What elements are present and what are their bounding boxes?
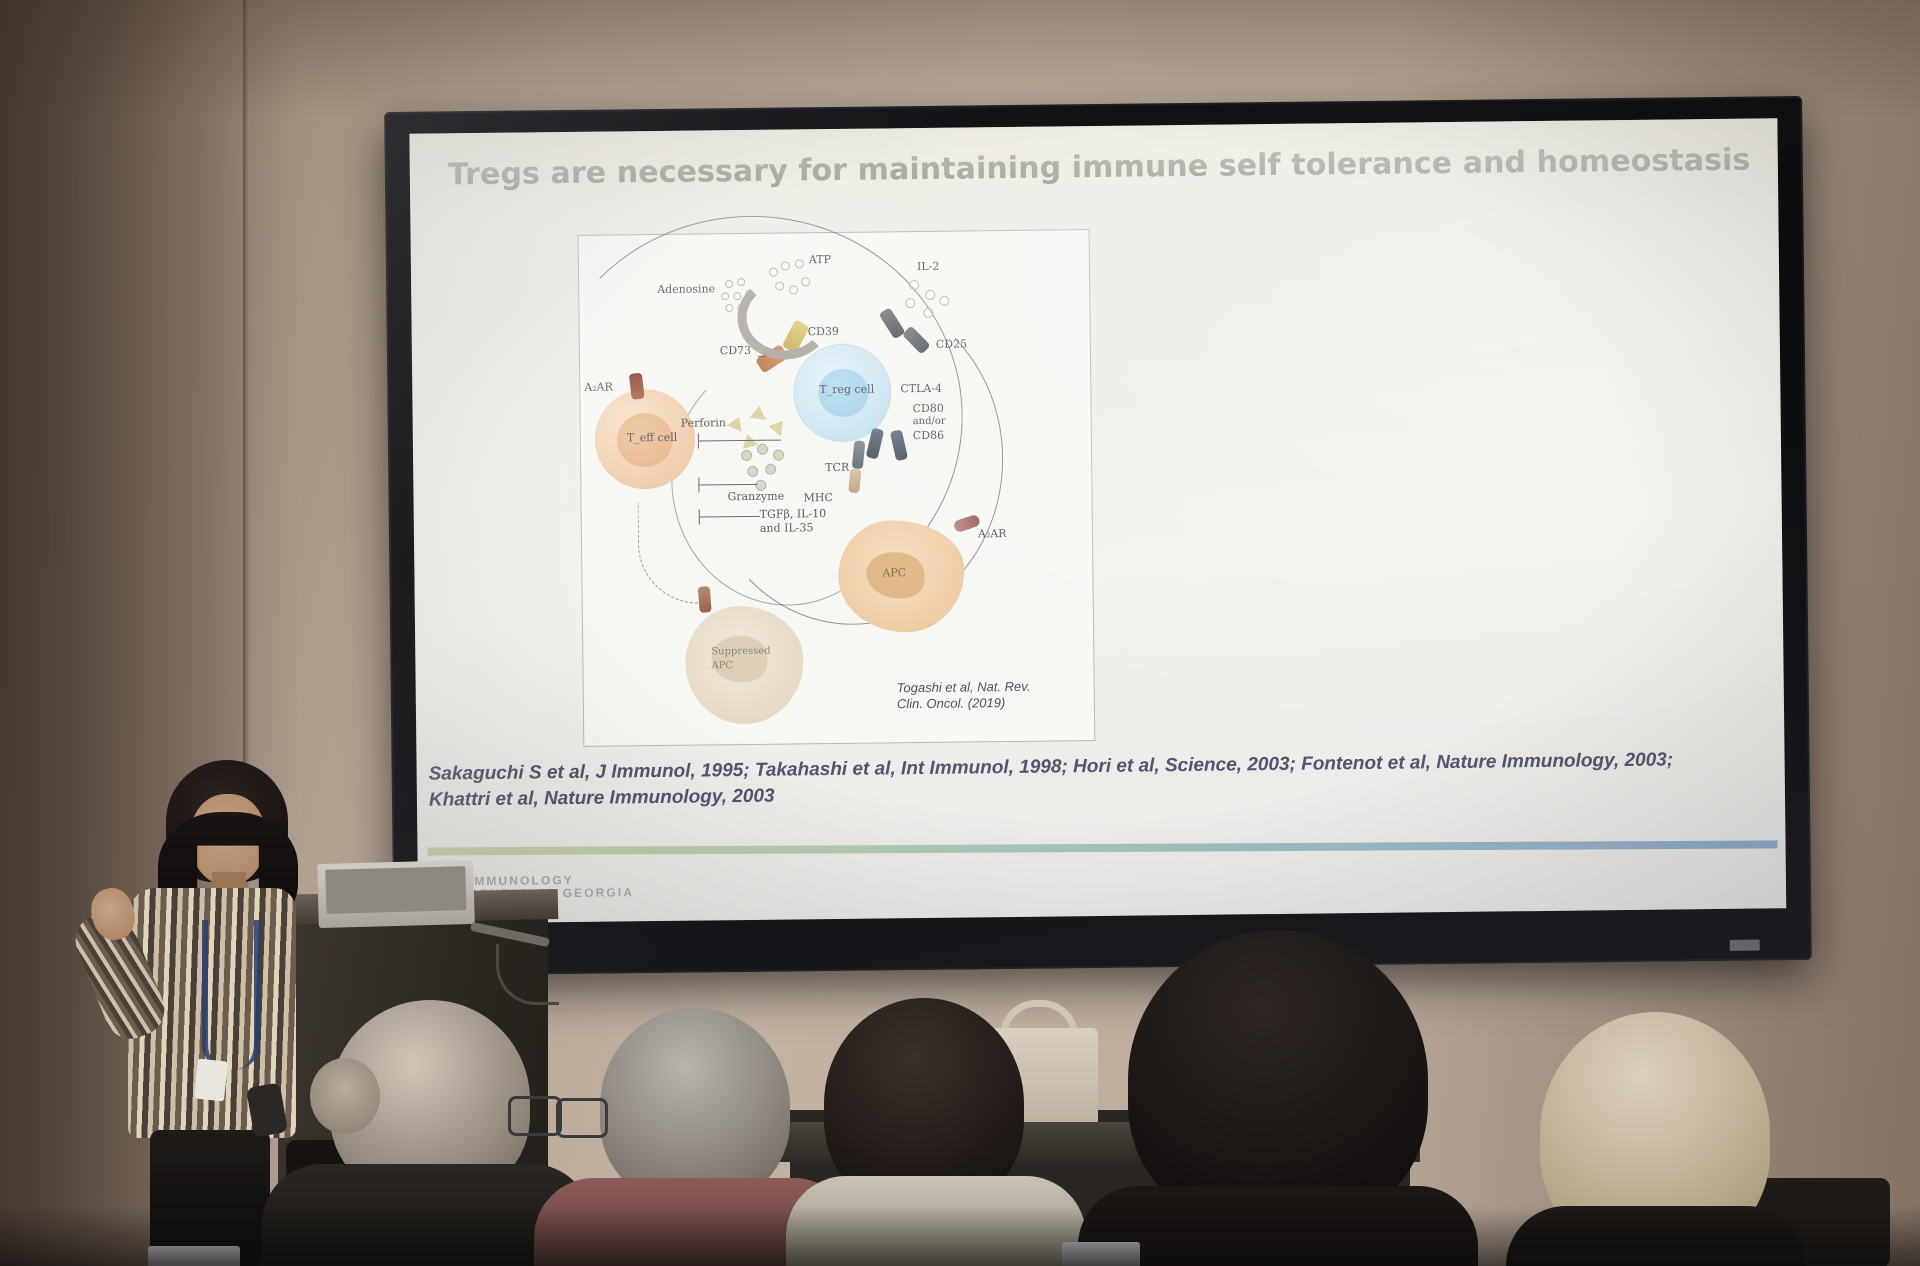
il2-label: IL-2 xyxy=(917,260,940,273)
suppressed-apc-label-2: APC xyxy=(711,660,733,671)
a2ar-label-apc: A₂AR xyxy=(978,527,1007,540)
figure-box: T_eff cell A₂AR T_reg cell CD39 CD73 xyxy=(578,229,1096,747)
atp-label: ATP xyxy=(809,253,831,266)
conference-room-photo: Tregs are necessary for maintaining immu… xyxy=(0,0,1920,1266)
foreground-shadow xyxy=(0,1206,1920,1266)
inhibit-cap-1 xyxy=(698,434,699,449)
presentation-screen: Tregs are necessary for maintaining immu… xyxy=(384,96,1812,976)
mhc-receptor xyxy=(848,468,861,493)
inhibit-cap-2 xyxy=(698,478,699,493)
slide-accent-rule xyxy=(428,840,1778,855)
andor-label: and/or xyxy=(913,416,946,427)
il2-dot xyxy=(923,308,933,318)
cd86-label: CD86 xyxy=(913,429,944,442)
audience-hair-bun-a xyxy=(310,1058,380,1134)
slide-title: Tregs are necessary for maintaining immu… xyxy=(448,143,1748,193)
granzyme-label: Granzyme xyxy=(727,490,784,504)
suppressed-apc-cell: Suppressed APC xyxy=(685,605,804,724)
adenosine-label: Adenosine xyxy=(657,282,715,296)
granzyme-dot xyxy=(773,450,784,461)
glasses-right-lens xyxy=(556,1098,608,1138)
ctla4-label: CTLA-4 xyxy=(900,382,942,395)
presenter-name-badge xyxy=(194,1059,228,1102)
suppressed-apc-nucleus xyxy=(711,636,768,683)
il2-dot xyxy=(909,280,919,290)
cd25-label: CD25 xyxy=(936,337,967,350)
granzyme-dot xyxy=(747,466,758,477)
reference-list: Sakaguchi S et al, J Immunol, 1995; Taka… xyxy=(429,747,1760,814)
perforin-granule xyxy=(750,405,768,420)
apc-label: APC xyxy=(882,566,906,579)
audience-head-d xyxy=(1128,930,1428,1230)
inhibit-cap-3 xyxy=(699,510,700,525)
suppressed-apc-receptor xyxy=(698,586,712,613)
cd73-label: CD73 xyxy=(720,344,751,357)
presenter-laptop xyxy=(317,860,475,928)
granzyme-dot xyxy=(757,444,768,455)
perforin-label: Perforin xyxy=(681,416,726,430)
il2-dot xyxy=(939,296,949,306)
mhc-label: MHC xyxy=(803,491,832,504)
presenter-laptop-screen xyxy=(325,866,466,914)
figure-citation: Togashi et al, Nat. Rev. Clin. Oncol. (2… xyxy=(897,678,1087,712)
cd80-label: CD80 xyxy=(912,402,943,415)
apc-cell: APC xyxy=(838,520,965,633)
a2ar-label-teff: A₂AR xyxy=(584,380,613,393)
adenosine-dot xyxy=(721,292,729,300)
il2-dot xyxy=(905,298,915,308)
glasses-left-lens xyxy=(508,1096,562,1136)
screen-brand-logo xyxy=(1730,940,1760,951)
suppressed-apc-label-1: Suppressed xyxy=(711,646,770,658)
figure-citation-line2: Clin. Oncol. (2019) xyxy=(897,694,1087,712)
adenosine-dot xyxy=(725,304,733,312)
audience-head-b xyxy=(600,1008,790,1204)
tcr-label: TCR xyxy=(825,461,849,474)
il2-dot xyxy=(925,290,935,300)
adenosine-dot xyxy=(737,278,745,286)
figure-diagram: T_eff cell A₂AR T_reg cell CD39 CD73 xyxy=(579,230,1095,746)
cytokines-label-2: and IL-35 xyxy=(760,521,814,535)
treg-cell-label: T_reg cell xyxy=(819,383,874,397)
adenosine-dot xyxy=(733,292,741,300)
granzyme-dot xyxy=(765,464,776,475)
cytokines-label-1: TGFβ, IL-10 xyxy=(760,507,827,521)
granzyme-dot xyxy=(741,450,752,461)
teff-cell-label: T_eff cell xyxy=(627,431,678,445)
slide-content: Tregs are necessary for maintaining immu… xyxy=(409,118,1786,923)
adenosine-dot xyxy=(725,280,733,288)
atp-dot xyxy=(781,261,790,270)
presenter-lanyard xyxy=(202,920,260,1070)
atp-dot xyxy=(795,259,804,268)
